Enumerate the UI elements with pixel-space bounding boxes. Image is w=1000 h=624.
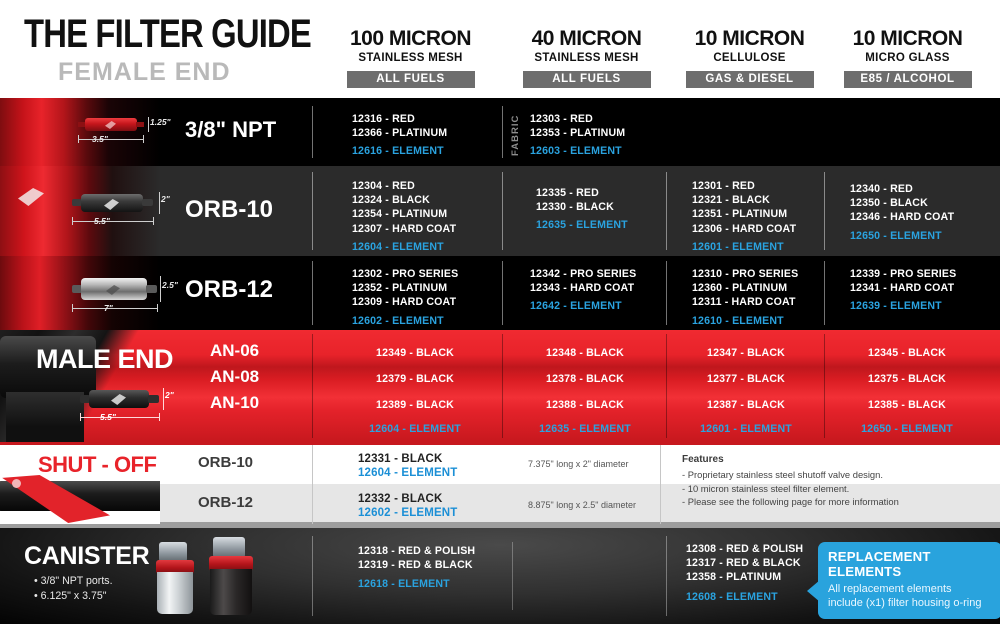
part-number: 12353 - PLATINUM — [530, 126, 700, 140]
part-number: 12331 - BLACK — [358, 452, 442, 466]
part-number-element: 12601 - ELEMENT — [692, 240, 862, 254]
part-number: 12324 - BLACK — [352, 193, 522, 207]
column-header-40-micron: 40 MICRON STAINLESS MESH ALL FUELS — [504, 28, 669, 88]
filter-guide-sheet: THE FILTER GUIDE FEMALE END 100 MICRON S… — [0, 0, 1000, 624]
row-orb10: 5.5" 2" ORB-10 12304 - RED 12324 - BLACK… — [0, 166, 1000, 256]
part-number: 12346 - HARD COAT — [850, 210, 1000, 224]
dim-diameter-label: 2" — [165, 390, 174, 400]
part-number: 12318 - RED & POLISH — [358, 544, 528, 558]
row-label-shutoff-orb10: ORB-10 — [198, 454, 253, 471]
part-number-element: 12616 - ELEMENT — [352, 144, 522, 158]
part-number: 12306 - HARD COAT — [692, 222, 862, 236]
part-number: 12310 - PRO SERIES — [692, 267, 862, 281]
part-number-element: 12602 - ELEMENT — [352, 314, 522, 328]
features-title: Features — [682, 454, 982, 465]
section-label-canister: CANISTER — [24, 542, 149, 571]
part-number: 12377 - BLACK — [666, 372, 826, 386]
part-number-element: 12635 - ELEMENT — [502, 422, 668, 436]
row-label-orb12: ORB-12 — [185, 276, 273, 304]
row-npt-photo — [0, 98, 160, 166]
canister-bullets: • 3/8" NPT ports. • 6.125" x 3.75" — [34, 574, 113, 604]
part-number: 12335 - RED — [536, 186, 706, 200]
column-fuel-badge: ALL FUELS — [347, 71, 475, 88]
part-number: 12303 - RED — [530, 112, 700, 126]
section-label-shut-off: SHUT - OFF — [38, 452, 156, 478]
cell-npt-100micron: 12316 - RED 12366 - PLATINUM 12616 - ELE… — [352, 112, 522, 159]
dim-length-label: 5.5" — [100, 412, 116, 422]
dim-tick — [143, 135, 144, 143]
part-number: 12343 - HARD COAT — [530, 281, 700, 295]
part-number: 12345 - BLACK — [824, 346, 990, 360]
column-micron-label: 10 MICRON — [667, 28, 832, 49]
part-number: 12389 - BLACK — [330, 398, 500, 412]
canister-photo-black — [208, 537, 256, 615]
dim-length-label: 3.5" — [92, 134, 108, 144]
dim-length-label: 7" — [104, 303, 113, 313]
canister-bullet: • 3/8" NPT ports. — [34, 574, 113, 589]
column-fuel-badge: E85 / ALCOHOL — [844, 71, 972, 88]
feature-item: - Proprietary stainless steel shutoff va… — [682, 468, 982, 482]
row-orb12: 7" 2.5" ORB-12 12302 - PRO SERIES 12352 … — [0, 256, 1000, 330]
part-number-element: 12639 - ELEMENT — [850, 299, 1000, 313]
cell-orb12-40micron: 12342 - PRO SERIES 12343 - HARD COAT 126… — [530, 267, 700, 314]
dim-line-vertical — [148, 117, 149, 132]
dim-diameter-label: 2" — [161, 194, 170, 204]
shutoff-dimensions: 8.875" long x 2.5" diameter — [528, 500, 636, 510]
part-number: 12354 - PLATINUM — [352, 207, 522, 221]
part-number: 12348 - BLACK — [502, 346, 668, 360]
cell-orb12-100micron: 12302 - PRO SERIES 12352 - PLATINUM 1230… — [352, 267, 522, 328]
feature-item: - 10 micron stainless steel filter eleme… — [682, 482, 982, 496]
canister-photo-polish — [155, 542, 197, 614]
cell-orb10-10micron-cellulose: 12301 - RED 12321 - BLACK 12351 - PLATIN… — [692, 179, 862, 254]
section-canister: CANISTER • 3/8" NPT ports. • 6.125" x 3.… — [0, 528, 1000, 624]
part-number-element: 12604 - ELEMENT — [330, 422, 500, 436]
part-number: 12339 - PRO SERIES — [850, 267, 1000, 281]
row-npt: 3.5" 1.25" 3/8" NPT FABRIC 12316 - RED 1… — [0, 98, 1000, 166]
row-label-orb10: ORB-10 — [185, 196, 273, 224]
cell-orb12-10micron-microglass: 12339 - PRO SERIES 12341 - HARD COAT 126… — [850, 267, 1000, 314]
part-number: 12360 - PLATINUM — [692, 281, 862, 295]
column-micron-label: 10 MICRON — [825, 28, 990, 49]
part-number: 12350 - BLACK — [850, 196, 1000, 210]
cell-orb10-10micron-microglass: 12340 - RED 12350 - BLACK 12346 - HARD C… — [850, 182, 1000, 243]
dim-length-label: 5.5" — [94, 216, 110, 226]
part-number: 12378 - BLACK — [502, 372, 668, 386]
page-title: THE FILTER GUIDE — [24, 14, 311, 54]
cell-orb10-40micron: 12335 - RED 12330 - BLACK 12635 - ELEMEN… — [536, 186, 706, 233]
part-number-element: 12603 - ELEMENT — [530, 144, 700, 158]
filter-device-orb10 — [72, 192, 154, 214]
column-micron-label: 100 MICRON — [328, 28, 493, 49]
page-subtitle: FEMALE END — [58, 60, 231, 85]
part-number: 12375 - BLACK — [824, 372, 990, 386]
column-fuel-badge: ALL FUELS — [523, 71, 651, 88]
callout-title: REPLACEMENT ELEMENTS — [828, 549, 992, 579]
row-label-an08: AN-08 — [210, 367, 259, 387]
part-number: 12388 - BLACK — [502, 398, 668, 412]
part-number: 12330 - BLACK — [536, 200, 706, 214]
part-number-element: 12610 - ELEMENT — [692, 314, 862, 328]
an-fitting-body — [6, 392, 84, 442]
part-number: 12379 - BLACK — [330, 372, 500, 386]
part-number: 12385 - BLACK — [824, 398, 990, 412]
cell-npt-40micron: 12303 - RED 12353 - PLATINUM 12603 - ELE… — [530, 112, 700, 159]
row-label-npt: 3/8" NPT — [185, 117, 276, 143]
part-number: 12304 - RED — [352, 179, 522, 193]
part-number-element: 12650 - ELEMENT — [850, 229, 1000, 243]
part-number-element: 12642 - ELEMENT — [530, 299, 700, 313]
part-number: 12352 - PLATINUM — [352, 281, 522, 295]
column-media-label: STAINLESS MESH — [328, 53, 493, 65]
section-shut-off: SHUT - OFF ORB-10 ORB-12 12331 - BLACK 1… — [0, 442, 1000, 528]
part-number: 12319 - RED & BLACK — [358, 558, 528, 572]
column-micron-label: 40 MICRON — [504, 28, 669, 49]
callout-line-1: All replacement elements — [828, 582, 992, 596]
part-number: 12301 - RED — [692, 179, 862, 193]
filter-device-npt — [78, 117, 144, 132]
part-number: 12341 - HARD COAT — [850, 281, 1000, 295]
canister-bullet: • 6.125" x 3.75" — [34, 589, 113, 604]
replacement-elements-callout: REPLACEMENT ELEMENTS All replacement ele… — [818, 542, 1000, 619]
part-number: 12309 - HARD COAT — [352, 295, 522, 309]
part-number-element: 12604 - ELEMENT — [352, 240, 522, 254]
features-box: Features - Proprietary stainless steel s… — [682, 454, 982, 509]
part-number: 12347 - BLACK — [666, 346, 826, 360]
part-number: 12387 - BLACK — [666, 398, 826, 412]
part-number: 12342 - PRO SERIES — [530, 267, 700, 281]
part-number: 12316 - RED — [352, 112, 522, 126]
part-number: 12321 - BLACK — [692, 193, 862, 207]
part-number-element: 12618 - ELEMENT — [358, 577, 528, 591]
dim-tick — [78, 135, 79, 143]
dim-diameter-label: 2.5" — [162, 280, 178, 290]
column-media-label: STAINLESS MESH — [504, 53, 669, 65]
part-number-element: 12604 - ELEMENT — [358, 466, 457, 480]
column-header-10-micron-cellulose: 10 MICRON CELLULOSE GAS & DIESEL — [667, 28, 832, 88]
row-label-an06: AN-06 — [210, 341, 259, 361]
row-label-shutoff-orb12: ORB-12 — [198, 494, 253, 511]
cell-orb10-100micron: 12304 - RED 12324 - BLACK 12354 - PLATIN… — [352, 179, 522, 268]
cell-canister-col1: 12318 - RED & POLISH 12319 - RED & BLACK… — [358, 544, 528, 592]
filter-device-male-end — [80, 388, 160, 410]
column-fuel-badge: GAS & DIESEL — [686, 71, 814, 88]
column-header-10-micron-microglass: 10 MICRON MICRO GLASS E85 / ALCOHOL — [825, 28, 990, 88]
part-number: 12307 - HARD COAT — [352, 222, 522, 236]
section-label-male-end: MALE END — [36, 344, 173, 375]
section-male-end: MALE END 5.5" 2" AN-06 AN-08 AN-10 12349… — [0, 330, 1000, 442]
dim-line-horizontal — [78, 139, 144, 140]
feature-item: - Please see the following page for more… — [682, 495, 982, 509]
cell-orb12-10micron-cellulose: 12310 - PRO SERIES 12360 - PLATINUM 1231… — [692, 267, 862, 328]
part-number-element: 12650 - ELEMENT — [824, 422, 990, 436]
part-number-element: 12635 - ELEMENT — [536, 218, 706, 232]
part-number: 12311 - HARD COAT — [692, 295, 862, 309]
callout-line-2: include (x1) filter housing o-ring — [828, 596, 992, 610]
part-number: 12349 - BLACK — [330, 346, 500, 360]
part-number-element: 12601 - ELEMENT — [666, 422, 826, 436]
row-label-an10: AN-10 — [210, 393, 259, 413]
header: THE FILTER GUIDE FEMALE END 100 MICRON S… — [0, 0, 1000, 98]
part-number-element: 12602 - ELEMENT — [358, 506, 457, 520]
part-number: 12351 - PLATINUM — [692, 207, 862, 221]
column-header-100-micron: 100 MICRON STAINLESS MESH ALL FUELS — [328, 28, 493, 88]
part-number: 12332 - BLACK — [358, 492, 442, 506]
part-number: 12366 - PLATINUM — [352, 126, 522, 140]
column-media-label: CELLULOSE — [667, 53, 832, 65]
shutoff-dimensions: 7.375" long x 2" diameter — [528, 459, 628, 469]
column-media-label: MICRO GLASS — [825, 53, 990, 65]
part-number: 12340 - RED — [850, 182, 1000, 196]
dim-diameter-label: 1.25" — [150, 117, 171, 127]
part-number: 12302 - PRO SERIES — [352, 267, 522, 281]
filter-device-orb12 — [72, 276, 158, 302]
